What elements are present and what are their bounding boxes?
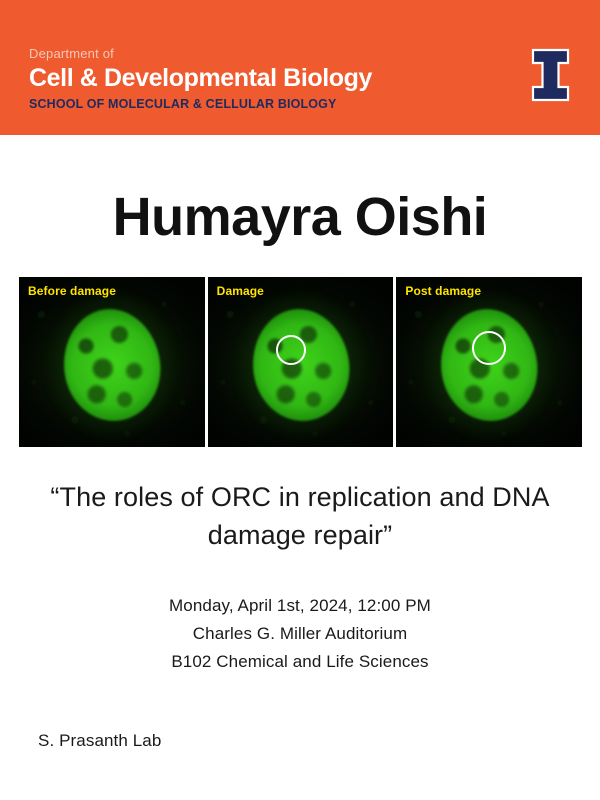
department-title: Cell & Developmental Biology	[29, 63, 372, 93]
lab-credit: S. Prasanth Lab	[38, 729, 161, 753]
panel-label-before: Before damage	[28, 284, 116, 299]
event-building: B102 Chemical and Life Sciences	[0, 648, 600, 676]
talk-title: “The roles of ORC in replication and DNA…	[40, 478, 560, 554]
microscopy-figure: Before damage Damage Post damage	[19, 277, 582, 447]
department-eyebrow: Department of	[29, 45, 372, 62]
event-datetime: Monday, April 1st, 2024, 12:00 PM	[0, 592, 600, 620]
school-subtitle: SCHOOL OF MOLECULAR & CELLULAR BIOLOGY	[29, 96, 372, 112]
speaker-name: Humayra Oishi	[0, 186, 600, 248]
microscopy-panel-before: Before damage	[19, 277, 205, 447]
panel-label-post-damage: Post damage	[405, 284, 481, 299]
header-text-block: Department of Cell & Developmental Biolo…	[29, 45, 372, 112]
microscopy-panel-damage: Damage	[208, 277, 394, 447]
panel-label-damage: Damage	[217, 284, 264, 299]
microscopy-panel-post-damage: Post damage	[396, 277, 582, 447]
header-banner: Department of Cell & Developmental Biolo…	[0, 0, 600, 135]
damage-site-circle	[276, 335, 306, 365]
illinois-block-i-logo	[531, 48, 570, 102]
event-details: Monday, April 1st, 2024, 12:00 PM Charle…	[0, 592, 600, 676]
event-venue: Charles G. Miller Auditorium	[0, 620, 600, 648]
